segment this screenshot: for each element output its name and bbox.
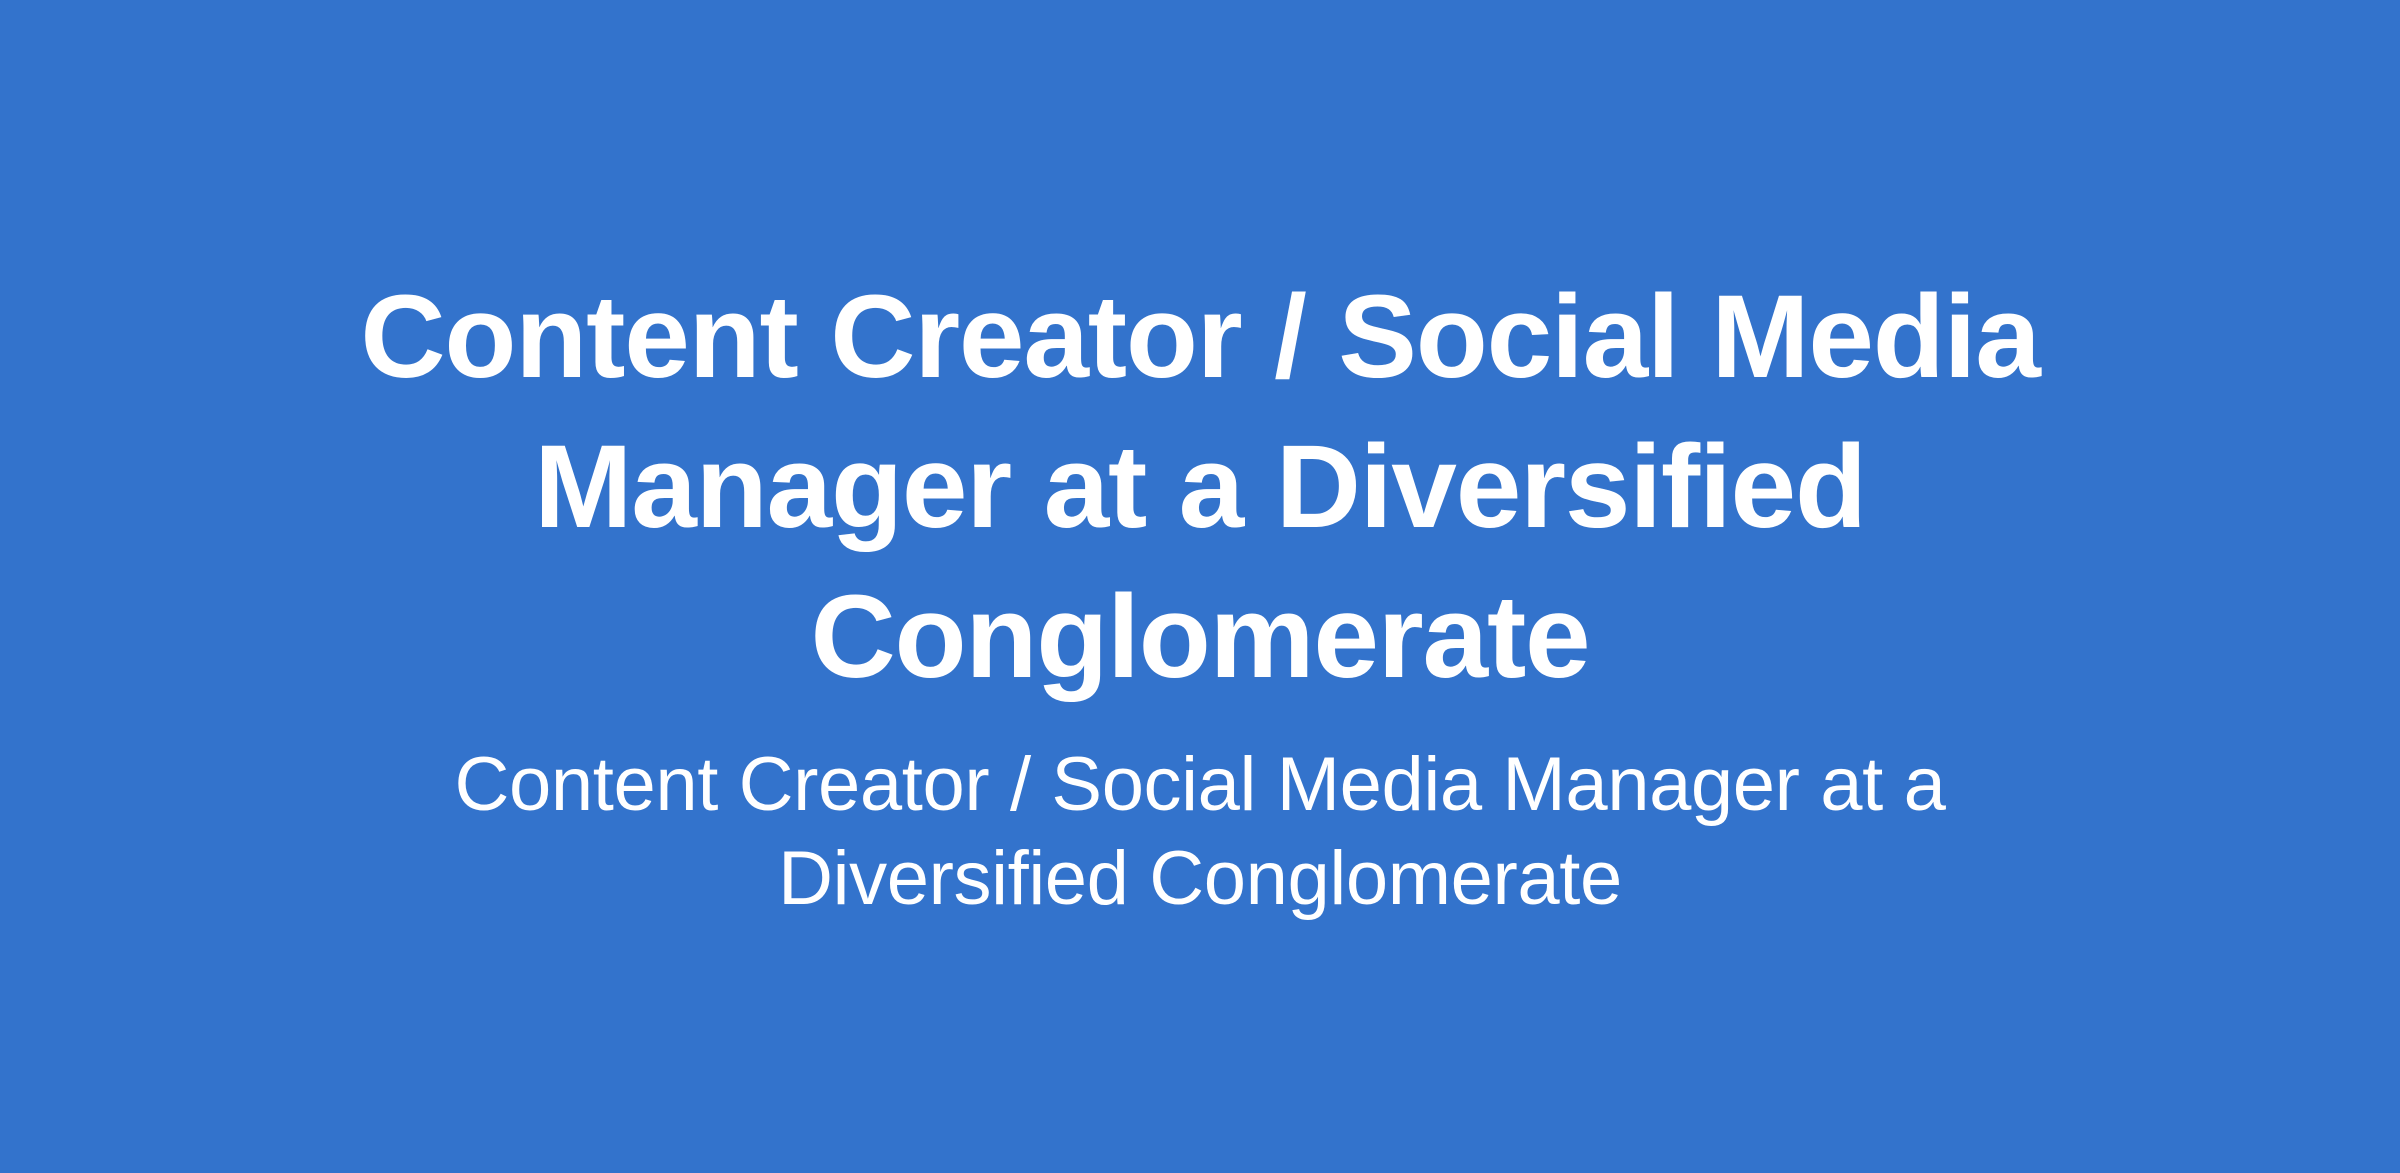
page-subtitle: Content Creator / Social Media Manager a… (360, 712, 2040, 926)
banner-content: Content Creator / Social Media Manager a… (360, 0, 2040, 926)
banner-root: Content Creator / Social Media Manager a… (0, 0, 2400, 1173)
page-title: Content Creator / Social Media Manager a… (360, 262, 2040, 712)
